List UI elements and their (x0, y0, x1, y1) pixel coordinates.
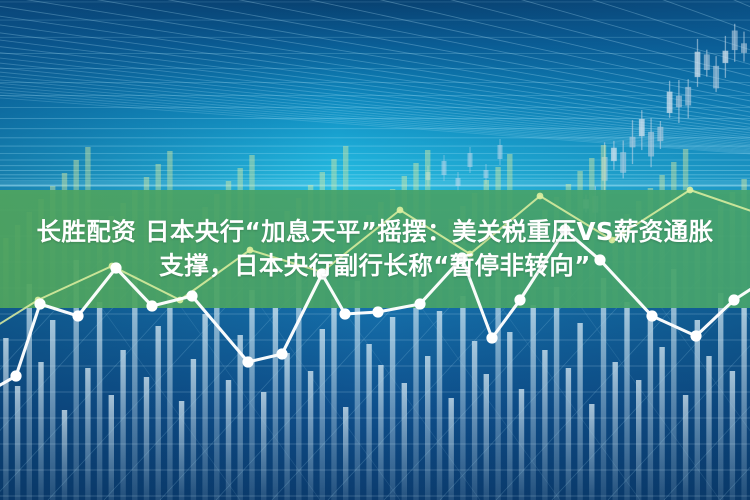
headline-line-1: 长胜配资 日本央行“加息天平”摇摆：美关税重压VS薪资通胀 (37, 215, 714, 249)
headline-line-2: 支撑，日本央行副行长称“暂停非转向” (159, 249, 590, 283)
news-thumbnail-image: 长胜配资 日本央行“加息天平”摇摆：美关税重压VS薪资通胀 支撑，日本央行副行长… (0, 0, 750, 500)
